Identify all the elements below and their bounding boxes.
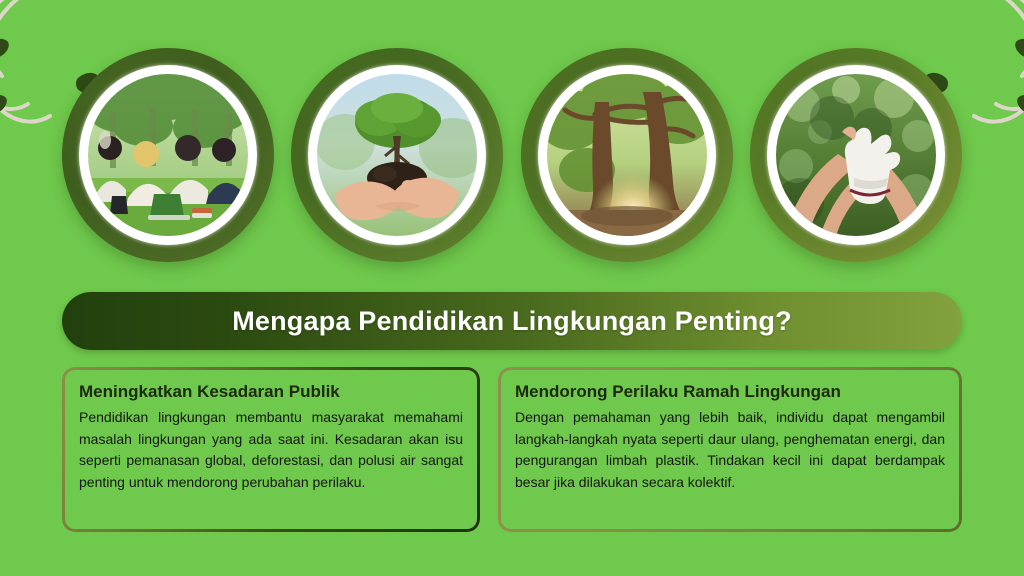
info-card-meningkatkan-kesadaran-publik[interactable]: Meningkatkan Kesadaran Publik Pendidikan… [62, 367, 480, 532]
info-cards-row: Meningkatkan Kesadaran Publik Pendidikan… [62, 367, 962, 532]
photo-gallery [62, 46, 962, 264]
slide-title: Mengapa Pendidikan Lingkungan Penting? [232, 306, 792, 337]
card-body: Pendidikan lingkungan membantu masyaraka… [79, 407, 463, 493]
card-heading: Meningkatkan Kesadaran Publik [79, 381, 463, 402]
photo-old-trees-sunlight [547, 74, 707, 236]
photo-hands-holding-sapling [317, 74, 477, 236]
title-banner: Mengapa Pendidikan Lingkungan Penting? [62, 292, 962, 350]
card-body: Dengan pemahaman yang lebih baik, indivi… [515, 407, 945, 493]
photo-circle-students-studying-outdoors[interactable] [62, 48, 274, 262]
photo-circle-old-trees-sunlight[interactable] [521, 48, 733, 262]
hands-holding-sapling-illustration [317, 74, 477, 236]
hands-teamwork-glove-illustration [776, 74, 936, 236]
photo-hands-teamwork-glove [776, 74, 936, 236]
info-card-mendorong-perilaku-ramah-lingkungan[interactable]: Mendorong Perilaku Ramah Lingkungan Deng… [498, 367, 962, 532]
old-trees-sunlight-illustration [547, 74, 707, 236]
slide-canvas: Mengapa Pendidikan Lingkungan Penting? M… [0, 0, 1024, 576]
photo-students-studying-outdoors [88, 74, 248, 236]
students-studying-outdoors-illustration [88, 74, 248, 236]
photo-circle-hands-teamwork-glove[interactable] [750, 48, 962, 262]
card-heading: Mendorong Perilaku Ramah Lingkungan [515, 381, 945, 402]
photo-circle-hands-holding-sapling[interactable] [291, 48, 503, 262]
